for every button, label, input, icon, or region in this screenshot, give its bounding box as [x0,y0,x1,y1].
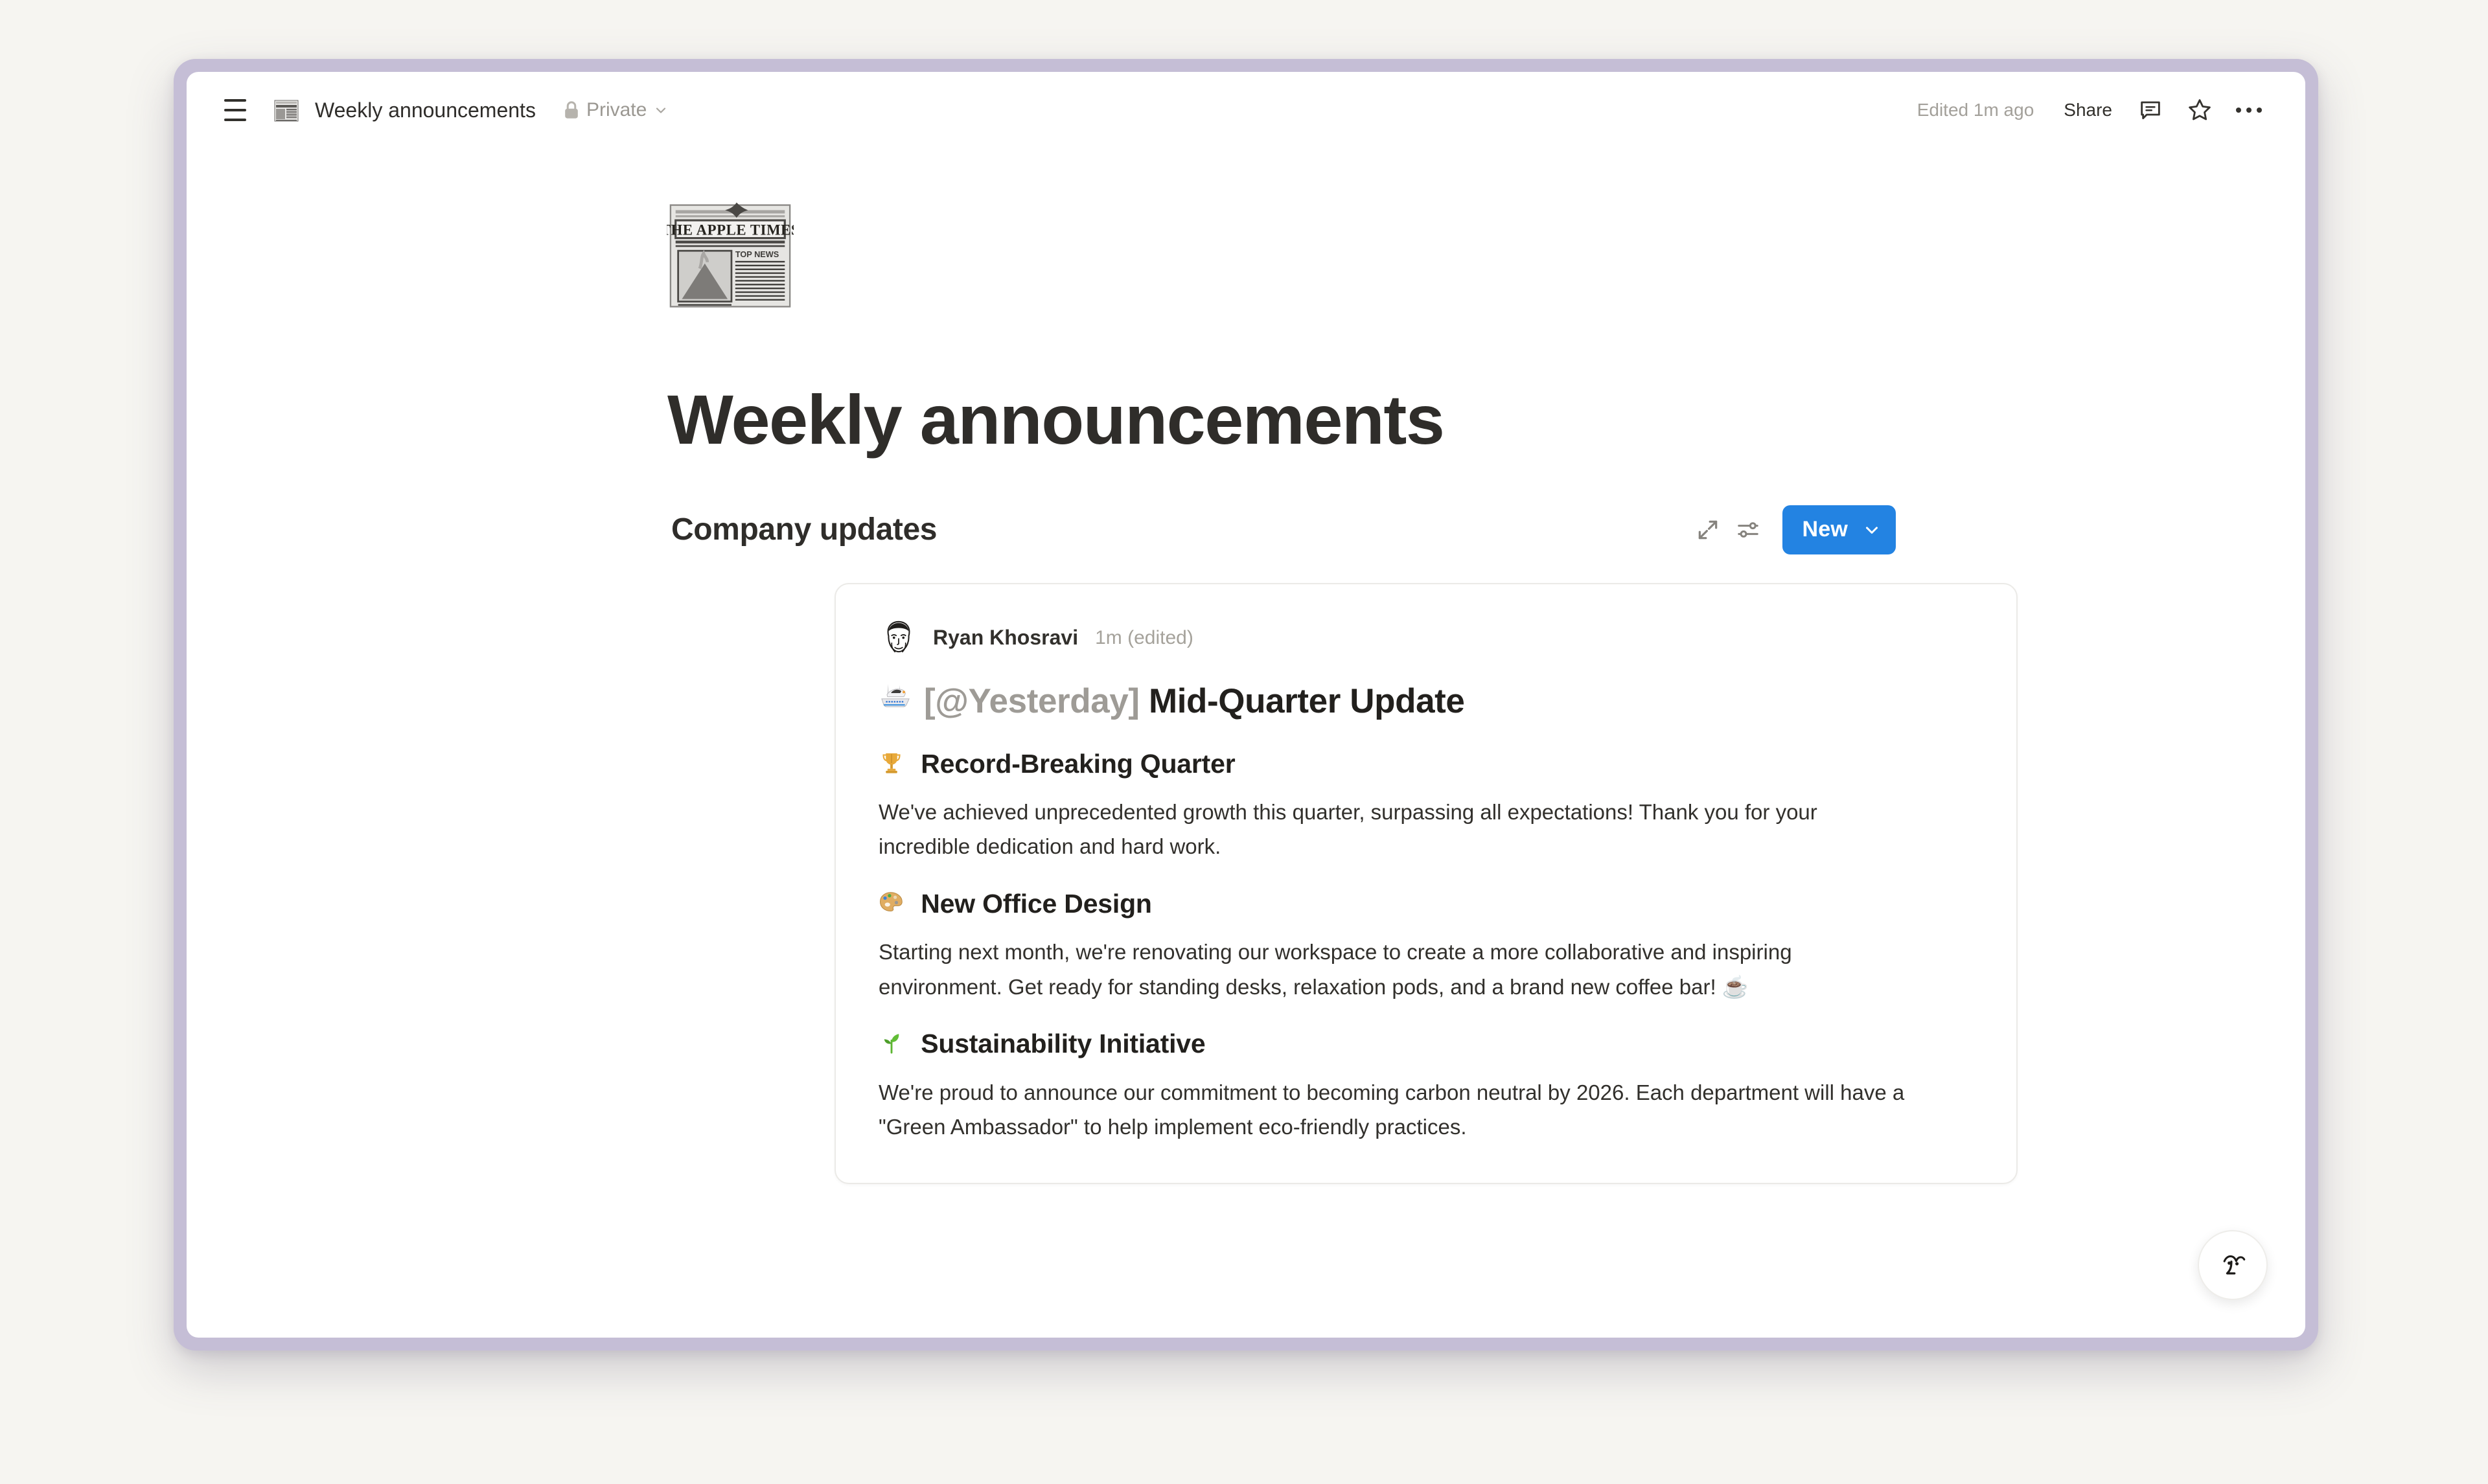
page-scroll-area[interactable]: THE APPLE TIMES TOP NEWS [187,148,2305,1338]
post-heading: [@Yesterday] Mid-Quarter Update [879,679,1974,724]
page-title-breadcrumb[interactable]: Weekly announcements [310,95,541,126]
section-title[interactable]: Company updates [671,512,937,547]
newspaper-emoji[interactable] [273,97,299,123]
sliders-icon [1736,518,1760,542]
ellipsis-icon [2236,108,2262,113]
share-button[interactable]: Share [2053,93,2123,127]
post-subheading-text: Record-Breaking Quarter [921,749,1235,779]
new-button-label: New [1802,517,1848,542]
top-bar-left: Weekly announcements Private [216,91,1917,129]
ai-assistant-face-icon [2215,1247,2251,1283]
post-timestamp: 1m (edited) [1095,627,1193,649]
lock-icon [563,100,580,120]
motorboat-emoji [879,679,912,713]
post-heading-text: [@Yesterday] Mid-Quarter Update [924,679,1464,724]
hamburger-menu-icon[interactable] [216,91,254,129]
comment-button[interactable] [2129,90,2172,130]
section-toolbar: New [1688,505,1896,554]
trophy-emoji [879,750,904,776]
page-title[interactable]: Weekly announcements [667,382,2305,459]
privacy-selector[interactable]: Private [557,95,675,125]
top-bar: Weekly announcements Private Edited 1m [187,72,2305,148]
post-heading-title [1140,682,1149,720]
post-subheading-text: Sustainability Initiative [921,1029,1205,1058]
newspaper-emoji[interactable]: THE APPLE TIMES TOP NEWS [667,192,794,319]
ai-assistant-button[interactable] [2198,1230,2268,1300]
chevron-down-icon [653,102,669,118]
post-subheading: Sustainability Initiative [879,1026,1974,1062]
filter-settings-button[interactable] [1728,510,1768,550]
page-body: THE APPLE TIMES TOP NEWS [187,192,2305,1184]
comment-icon [2137,97,2163,123]
avatar[interactable] [879,618,919,658]
post-author-row: Ryan Khosravi 1m (edited) [879,618,1974,658]
top-bar-right: Edited 1m ago Share [1917,90,2270,130]
post-author-name: Ryan Khosravi [933,626,1078,650]
star-icon [2186,97,2213,124]
post-subheading: Record-Breaking Quarter [879,746,1974,782]
app-window: Weekly announcements Private Edited 1m [187,72,2305,1338]
new-button[interactable]: New [1782,505,1896,554]
date-mention[interactable]: [@Yesterday] [924,682,1140,720]
post-paragraph: Starting next month, we're renovating ou… [879,935,1909,1004]
svg-text:TOP NEWS: TOP NEWS [735,249,779,259]
app-window-frame: Weekly announcements Private Edited 1m [174,59,2318,1351]
seedling-emoji [879,1030,904,1056]
privacy-label: Private [586,99,647,121]
expand-arrows-icon [1696,518,1720,542]
post-paragraph: We've achieved unprecedented growth this… [879,795,1909,864]
desktop-background: Weekly announcements Private Edited 1m [0,0,2488,1484]
post-subheading-text: New Office Design [921,889,1152,919]
section-header: Company updates [671,505,1896,554]
favorite-button[interactable] [2178,90,2221,130]
post-card[interactable]: Ryan Khosravi 1m (edited) [835,583,2018,1185]
expand-button[interactable] [1688,510,1728,550]
more-options-button[interactable] [2228,90,2270,130]
post-paragraph: We're proud to announce our commitment t… [879,1075,1909,1145]
svg-text:THE APPLE TIMES: THE APPLE TIMES [667,222,794,238]
last-edited-label: Edited 1m ago [1917,100,2034,120]
artist-palette-emoji [879,890,904,916]
chevron-down-icon [1862,520,1882,540]
post-subheading: New Office Design [879,886,1974,922]
